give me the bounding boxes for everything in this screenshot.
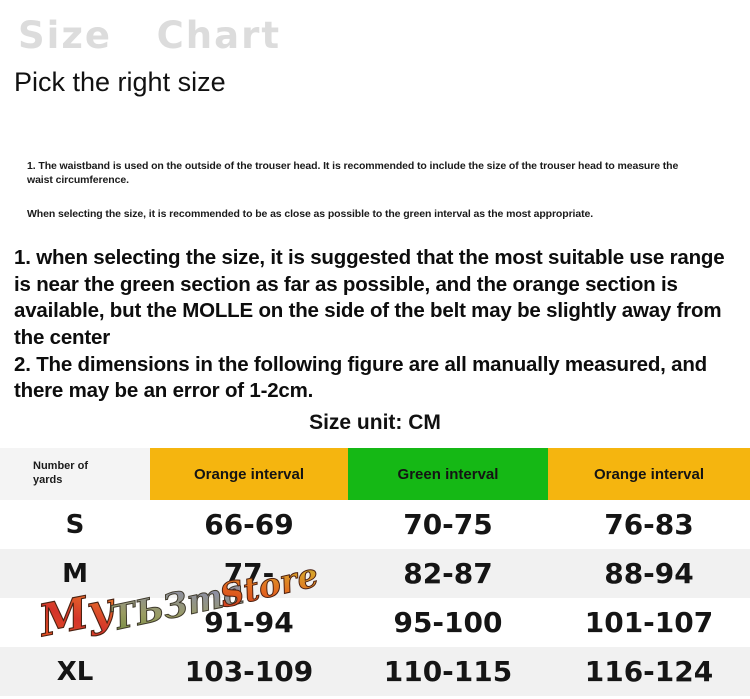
cell-green: 110-115 — [348, 647, 548, 696]
column-header-orange-interval-low: Orange interval — [150, 448, 348, 500]
cell-orange-low: 103-109 — [150, 647, 348, 696]
cell-orange-low: 77- — [150, 549, 348, 598]
cell-orange-high: 116-124 — [548, 647, 750, 696]
cell-green: 70-75 — [348, 500, 548, 549]
corner-label-line-2: yards — [33, 474, 150, 488]
cell-green: 95-100 — [348, 598, 548, 647]
cell-green: 82-87 — [348, 549, 548, 598]
table-row: 91-94 95-100 101-107 — [0, 598, 750, 647]
cell-size: M — [0, 549, 150, 598]
page-title: Pick the right size — [14, 68, 226, 98]
corner-label-line-1: Number of — [33, 460, 150, 474]
cell-size: S — [0, 500, 150, 549]
cell-orange-high: 88-94 — [548, 549, 750, 598]
column-header-green-interval: Green interval — [348, 448, 548, 500]
table-row: XL 103-109 110-115 116-124 — [0, 647, 750, 696]
size-chart-table: Number of yards Orange interval Green in… — [0, 448, 750, 696]
table-row: S 66-69 70-75 76-83 — [0, 500, 750, 549]
note-green-interval: When selecting the size, it is recommend… — [27, 208, 727, 222]
column-header-orange-interval-high: Orange interval — [548, 448, 750, 500]
cell-size — [0, 598, 150, 647]
cell-orange-low: 66-69 — [150, 500, 348, 549]
note-instructions: 1. when selecting the size, it is sugges… — [14, 245, 736, 405]
cell-orange-high: 101-107 — [548, 598, 750, 647]
page-ghost-title: Size Chart — [18, 17, 281, 54]
column-header-number-of-yards: Number of yards — [0, 448, 150, 500]
table-header-row: Number of yards Orange interval Green in… — [0, 448, 750, 500]
note-waistband: 1. The waistband is used on the outside … — [27, 160, 695, 188]
table-row: M 77- 82-87 88-94 — [0, 549, 750, 598]
size-unit-caption: Size unit: CM — [0, 411, 750, 435]
cell-orange-low: 91-94 — [150, 598, 348, 647]
cell-orange-high: 76-83 — [548, 500, 750, 549]
cell-size: XL — [0, 647, 150, 696]
